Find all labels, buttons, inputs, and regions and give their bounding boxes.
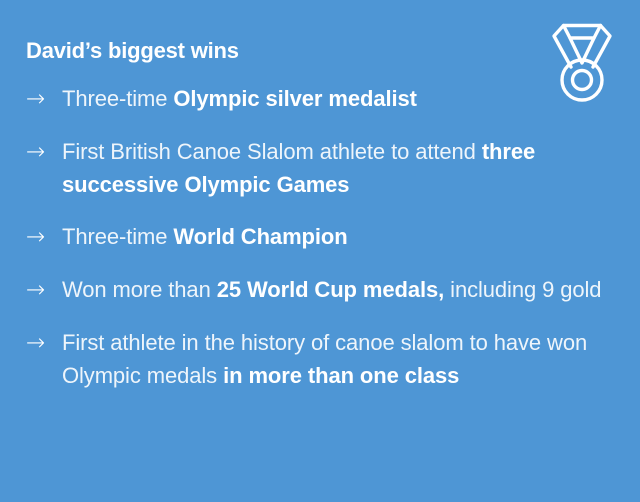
list-item: →Three-time Olympic silver medalist	[26, 82, 626, 116]
list-item-text: First athlete in the history of canoe sl…	[62, 326, 626, 392]
list-item-text: Won more than 25 World Cup medals, inclu…	[62, 273, 626, 306]
text-emphasis: in more than one class	[223, 363, 459, 388]
text-emphasis: Olympic silver medalist	[173, 86, 416, 111]
list-item: →Won more than 25 World Cup medals, incl…	[26, 273, 626, 307]
text-regular: Won more than	[62, 277, 217, 302]
text-emphasis: 25 World Cup medals,	[217, 277, 444, 302]
text-emphasis: World Champion	[173, 224, 347, 249]
text-regular: First British Canoe Slalom athlete to at…	[62, 139, 482, 164]
arrow-right-icon: →	[26, 220, 62, 254]
arrow-right-icon: →	[26, 273, 62, 307]
page-title: David’s biggest wins	[26, 37, 239, 65]
arrow-right-icon: →	[26, 135, 62, 169]
wins-list: →Three-time Olympic silver medalist→Firs…	[26, 82, 626, 411]
arrow-right-icon: →	[26, 82, 62, 116]
slide-canvas: David’s biggest wins →Three-time Olympic…	[0, 0, 640, 502]
text-regular: Three-time	[62, 224, 173, 249]
list-item-text: Three-time Olympic silver medalist	[62, 82, 626, 115]
text-regular: Three-time	[62, 86, 173, 111]
list-item: →Three-time World Champion	[26, 220, 626, 254]
list-item-text: Three-time World Champion	[62, 220, 626, 253]
arrow-right-icon: →	[26, 326, 62, 360]
list-item-text: First British Canoe Slalom athlete to at…	[62, 135, 626, 201]
text-regular: including 9 gold	[444, 277, 601, 302]
list-item: →First athlete in the history of canoe s…	[26, 326, 626, 392]
list-item: →First British Canoe Slalom athlete to a…	[26, 135, 626, 201]
